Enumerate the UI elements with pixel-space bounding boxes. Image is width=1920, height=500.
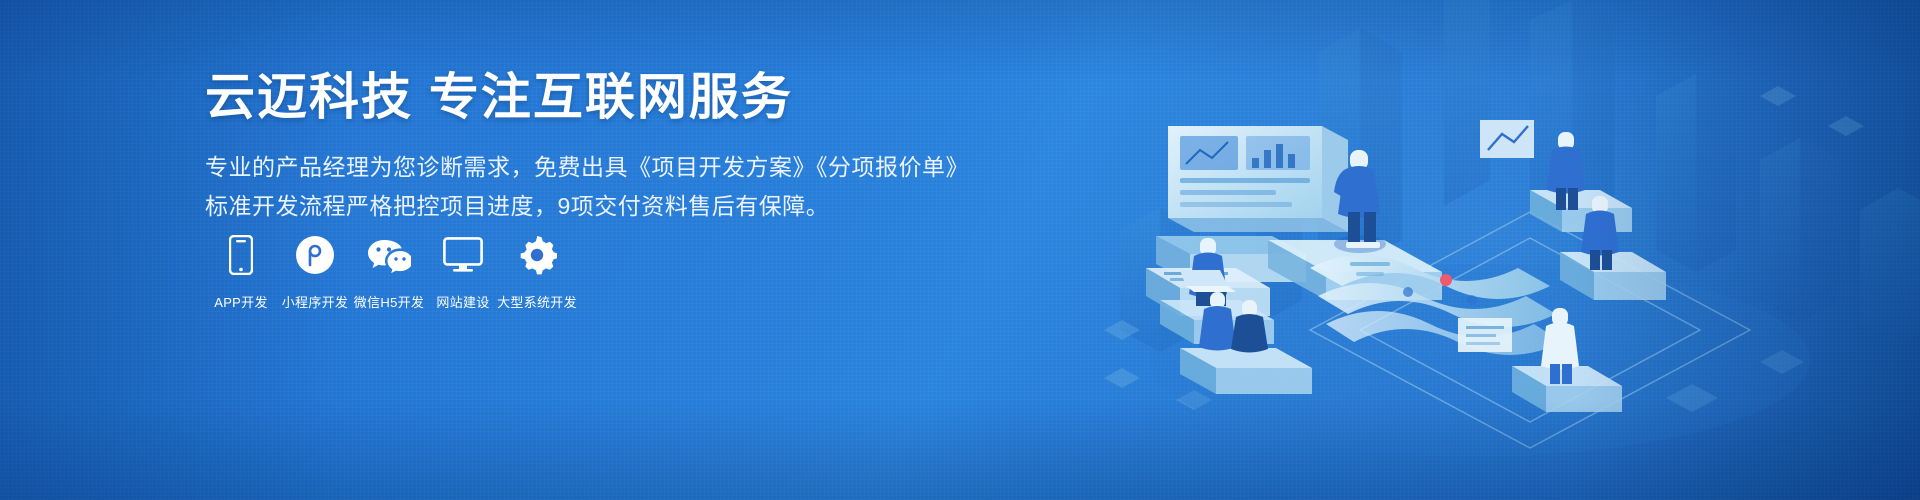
service-item-system[interactable]: 大型系统开发 — [501, 232, 573, 311]
mini-program-icon — [295, 232, 335, 278]
banner-subtitle-line-2: 标准开发流程严格把控项目进度，9项交付资料售后有保障。 — [205, 188, 905, 225]
service-label-wechat: 微信H5开发 — [354, 292, 424, 311]
service-label-website: 网站建设 — [436, 292, 489, 311]
service-item-wechat[interactable]: 微信H5开发 — [353, 232, 425, 311]
wechat-icon — [367, 232, 411, 278]
banner-subtitle-line-1: 专业的产品经理为您诊断需求，免费出具《项目开发方案》《分项报价单》 — [205, 149, 905, 186]
service-icon-row: APP开发 小程序开发 微信 — [205, 232, 575, 311]
service-label-system: 大型系统开发 — [497, 292, 577, 311]
gear-icon — [517, 232, 557, 278]
service-label-app: APP开发 — [214, 292, 268, 311]
service-item-miniprogram[interactable]: 小程序开发 — [279, 232, 351, 311]
service-label-miniprogram: 小程序开发 — [282, 292, 349, 311]
mobile-phone-icon — [229, 232, 253, 278]
hero-illustration — [1060, 0, 1920, 500]
banner-subtitle: 专业的产品经理为您诊断需求，免费出具《项目开发方案》《分项报价单》 标准开发流程… — [205, 149, 905, 226]
banner-headline: 云迈科技 专注互联网服务 — [205, 68, 905, 127]
floating-chart-card — [1480, 120, 1534, 158]
banner-copy: 云迈科技 专注互联网服务 专业的产品经理为您诊断需求，免费出具《项目开发方案》《… — [205, 68, 905, 226]
monitor-icon — [443, 232, 483, 278]
service-item-website[interactable]: 网站建设 — [427, 232, 499, 311]
service-item-app[interactable]: APP开发 — [205, 232, 277, 311]
dashboard-monitor — [1168, 126, 1348, 232]
floating-tablet-card — [1458, 318, 1512, 352]
promo-banner: 云迈科技 专注互联网服务 专业的产品经理为您诊断需求，免费出具《项目开发方案》《… — [0, 0, 1920, 500]
